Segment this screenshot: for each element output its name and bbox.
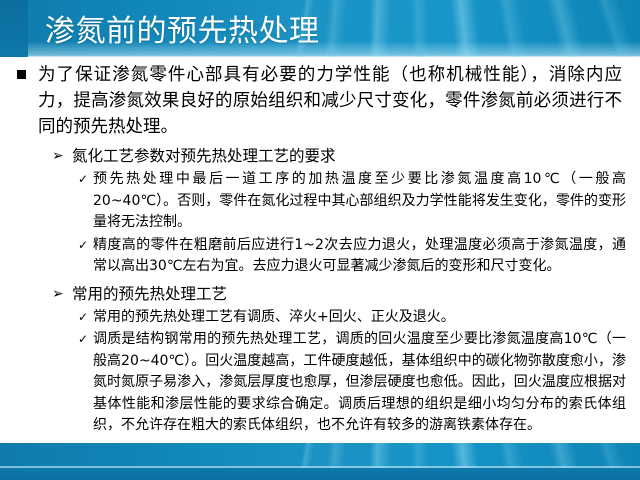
header-light-rays-decoration [294,0,640,57]
check-bullet-icon: ✓ [78,235,88,257]
square-bullet-icon [17,70,26,79]
list-item-text: 精度高的零件在粗磨前后应进行1~2次去应力退火，处理温度必须高于渗氮温度，通常以… [93,237,626,275]
check-bullet-icon: ✓ [78,307,88,329]
list-item-text: 预先热处理中最后一道工序的加热温度至少要比渗氮温度高10℃（一般高20~40℃）… [93,171,626,230]
arrow-bullet-icon: ➢ [52,144,64,168]
list-item: ✓ 调质是结构钢常用的预先热处理工艺，调质的回火温度至少要比渗氮温度高10℃（一… [78,329,626,437]
slide-header-band: 渗氮前的预先热处理 [0,0,640,57]
list-item-text: 调质是结构钢常用的预先热处理工艺，调质的回火温度至少要比渗氮温度高10℃（一般高… [93,331,626,433]
section-heading-common-pre-heat-treatment-processes: ➢ 常用的预先热处理工艺 [52,282,620,306]
page-title: 渗氮前的预先热处理 [45,12,320,52]
section-heading-text: 常用的预先热处理工艺 [72,285,227,303]
check-bullet-icon: ✓ [78,169,88,191]
footer-lower-band [0,468,640,480]
list-item: ✓ 常用的预先热处理工艺有调质、淬火+回火、正火及退火。 [78,307,626,329]
arrow-bullet-icon: ➢ [52,282,64,306]
section-heading-text: 氮化工艺参数对预先热处理工艺的要求 [72,147,336,165]
section-heading-nitriding-parameter-requirements: ➢ 氮化工艺参数对预先热处理工艺的要求 [52,144,620,168]
list-item: ✓ 精度高的零件在粗磨前后应进行1~2次去应力退火，处理温度必须高于渗氮温度，通… [78,235,626,278]
slide-canvas: 渗氮前的预先热处理 为了保证渗氮零件心部具有必要的力学性能（也称机械性能），消除… [0,0,640,480]
header-left-accent-strip [0,0,28,57]
check-bullet-icon: ✓ [78,329,88,351]
level1-bullet-text: 为了保证渗氮零件心部具有必要的力学性能（也称机械性能），消除内应力，提高渗氮效果… [38,65,622,137]
list-item: ✓ 预先热处理中最后一道工序的加热温度至少要比渗氮温度高10℃（一般高20~40… [78,169,626,234]
level1-bullet-item: 为了保证渗氮零件心部具有必要的力学性能（也称机械性能），消除内应力，提高渗氮效果… [16,62,622,140]
slide-content: 为了保证渗氮零件心部具有必要的力学性能（也称机械性能），消除内应力，提高渗氮效果… [0,60,640,480]
slide-footer-band [0,443,640,480]
list-item-text: 常用的预先热处理工艺有调质、淬火+回火、正火及退火。 [93,309,455,325]
